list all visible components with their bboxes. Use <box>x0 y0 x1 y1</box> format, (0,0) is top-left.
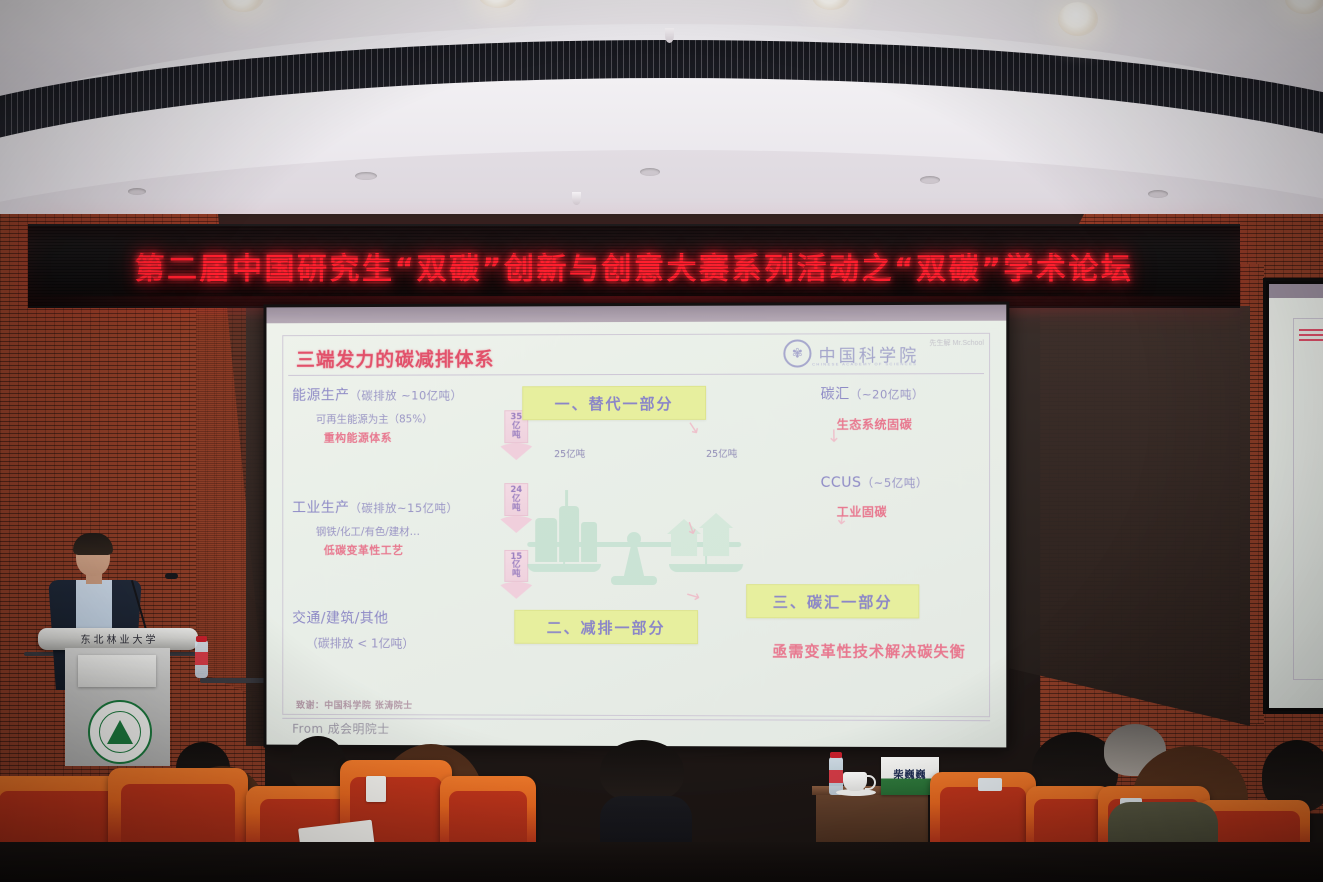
left-item-heading: 交通/建筑/其他 <box>292 608 505 628</box>
left-item-heading-main: 工业生产 <box>292 500 349 516</box>
factory-smoke <box>565 490 568 506</box>
microphone-head <box>165 573 178 579</box>
ceiling-downlight <box>1058 2 1098 36</box>
right-item-heading-main: 碳汇 <box>821 386 850 402</box>
left-item-heading-main: 能源生产 <box>292 388 349 404</box>
ceiling-recessed-fixture <box>640 168 660 176</box>
side-projection-screen <box>1263 278 1323 714</box>
ceiling-downlight <box>478 0 518 8</box>
left-item-emphasis: 重构能源体系 <box>324 429 506 445</box>
hall-floor <box>0 842 1323 882</box>
left-item-heading-main: 交通/建筑/其他 <box>292 610 388 626</box>
ceiling-downlight <box>1285 0 1323 14</box>
left-item-heading-sub: （碳排放 < 1亿吨） <box>306 634 505 651</box>
cas-logo-subtext: CHINESE ACADEMY OF SCIENCES <box>812 361 917 366</box>
highlight-callout-2: 二、减排一部分 <box>514 610 698 644</box>
highlight-callout-3: 三、碳汇一部分 <box>746 584 919 618</box>
right-item-heading-main: CCUS <box>821 475 862 491</box>
slide-right-column: 碳汇（~20亿吨） 生态系统固碳 CCUS（~5亿吨） 工业固碳 <box>821 383 982 520</box>
left-item-emphasis: 低碳变革性工艺 <box>324 542 506 558</box>
left-item-heading-sub: （碳排放~15亿吨） <box>350 501 459 515</box>
scale-label-right: 25亿吨 <box>706 446 737 460</box>
factory-icon <box>535 518 557 562</box>
scale-pivot-knob <box>627 532 641 546</box>
ceiling-downlight <box>222 0 264 12</box>
sprinkler-head <box>572 192 581 205</box>
seat-number-tag <box>978 778 1002 791</box>
nefu-emblem-inner <box>99 711 141 753</box>
factory-icon <box>581 522 597 562</box>
side-screen-topband <box>1269 284 1323 298</box>
factory-icon <box>559 506 579 562</box>
led-banner: 第二届中国研究生“双碳”创新与创意大赛系列活动之“双碳”学术论坛 <box>28 224 1240 308</box>
right-item-heading: 碳汇（~20亿吨） <box>821 383 982 403</box>
slide-conclusion: 亟需变革性技术解决碳失衡 <box>772 640 966 662</box>
slide-from-line: From 成会明院士 <box>292 720 390 737</box>
scale-base <box>611 576 657 585</box>
audience-papers <box>366 776 386 802</box>
stage-rail <box>200 678 270 683</box>
ceiling-downlight <box>812 0 850 10</box>
right-item-heading: CCUS（~5亿吨） <box>821 475 982 491</box>
left-item-heading: 能源生产（碳排放 ~10亿吨） <box>292 384 505 404</box>
nefu-tree-icon <box>107 720 133 744</box>
left-item-detail: 钢铁/化工/有色/建材… <box>316 524 505 539</box>
right-item-emphasis: 工业固碳 <box>837 503 982 520</box>
auditorium-ceiling <box>0 0 1323 232</box>
nefu-emblem <box>88 700 152 764</box>
slide-watermark: 先生解 Mr.School <box>929 339 984 350</box>
audience-head <box>290 736 346 792</box>
led-banner-text: 第二届中国研究生“双碳”创新与创意大赛系列活动之“双碳”学术论坛 <box>135 244 1134 288</box>
scale-pivot <box>623 544 645 580</box>
side-screen-content-box <box>1293 318 1323 680</box>
presentation-slide: 三端发力的碳减排体系 ✾ 中国科学院 CHINESE ACADEMY OF SC… <box>266 321 1006 748</box>
cas-emblem-icon: ✾ <box>783 339 811 367</box>
ceiling-recessed-fixture <box>920 176 940 184</box>
lecture-hall-photo: 第二届中国研究生“双碳”创新与创意大赛系列活动之“双碳”学术论坛 三端发力的碳减… <box>0 0 1323 882</box>
house-icon <box>703 528 729 556</box>
side-screen-title-lines <box>1299 328 1323 341</box>
flow-arrow-head <box>496 443 536 460</box>
highlight-callout-1: 一、替代一部分 <box>522 386 706 420</box>
stage-wall-angled-right <box>1000 306 1250 726</box>
speaker-hair <box>73 533 113 555</box>
scale-pan-left <box>527 564 601 572</box>
left-item-detail: 可再生能源为主（85%） <box>316 411 505 426</box>
podium-shelf <box>78 655 156 687</box>
right-item-emphasis: 生态系统固碳 <box>837 415 982 432</box>
left-item-heading: 工业生产（碳排放~15亿吨） <box>292 497 505 517</box>
table-water-bottle-cap <box>830 752 842 758</box>
sprinkler-head <box>665 28 674 43</box>
left-item-heading-sub: （碳排放 ~10亿吨） <box>350 388 463 402</box>
balance-scale-graphic <box>519 468 749 598</box>
water-bottle-cap <box>196 636 207 642</box>
ceiling-recessed-fixture <box>1148 190 1168 198</box>
tea-cup <box>843 772 867 791</box>
scale-label-left: 25亿吨 <box>554 446 585 460</box>
side-screen-slide <box>1269 284 1323 708</box>
name-placard-text: 柴巍巍 <box>894 766 927 781</box>
house-roof-icon <box>699 513 733 528</box>
audience-head <box>600 740 684 802</box>
ceiling-recessed-fixture <box>128 188 146 195</box>
slide-title: 三端发力的碳减排体系 <box>296 344 494 371</box>
scale-pan-right <box>669 564 743 572</box>
right-item-heading-sub: （~5亿吨） <box>862 476 929 490</box>
table-water-bottle-label <box>829 770 843 783</box>
ceiling-recessed-fixture <box>355 172 377 180</box>
right-item-heading-sub: （~20亿吨） <box>850 387 924 401</box>
slide-left-column: 能源生产（碳排放 ~10亿吨） 可再生能源为主（85%） 重构能源体系 工业生产… <box>292 384 505 651</box>
projection-screen: 三端发力的碳减排体系 ✾ 中国科学院 CHINESE ACADEMY OF SC… <box>264 302 1010 751</box>
podium-brand-text: 东北林业大学 <box>62 631 177 646</box>
slide-credit: 致谢：中国科学院 张涛院士 <box>296 698 412 711</box>
water-bottle-label <box>195 652 208 665</box>
arrow-unit-b: 吨 <box>512 431 520 440</box>
